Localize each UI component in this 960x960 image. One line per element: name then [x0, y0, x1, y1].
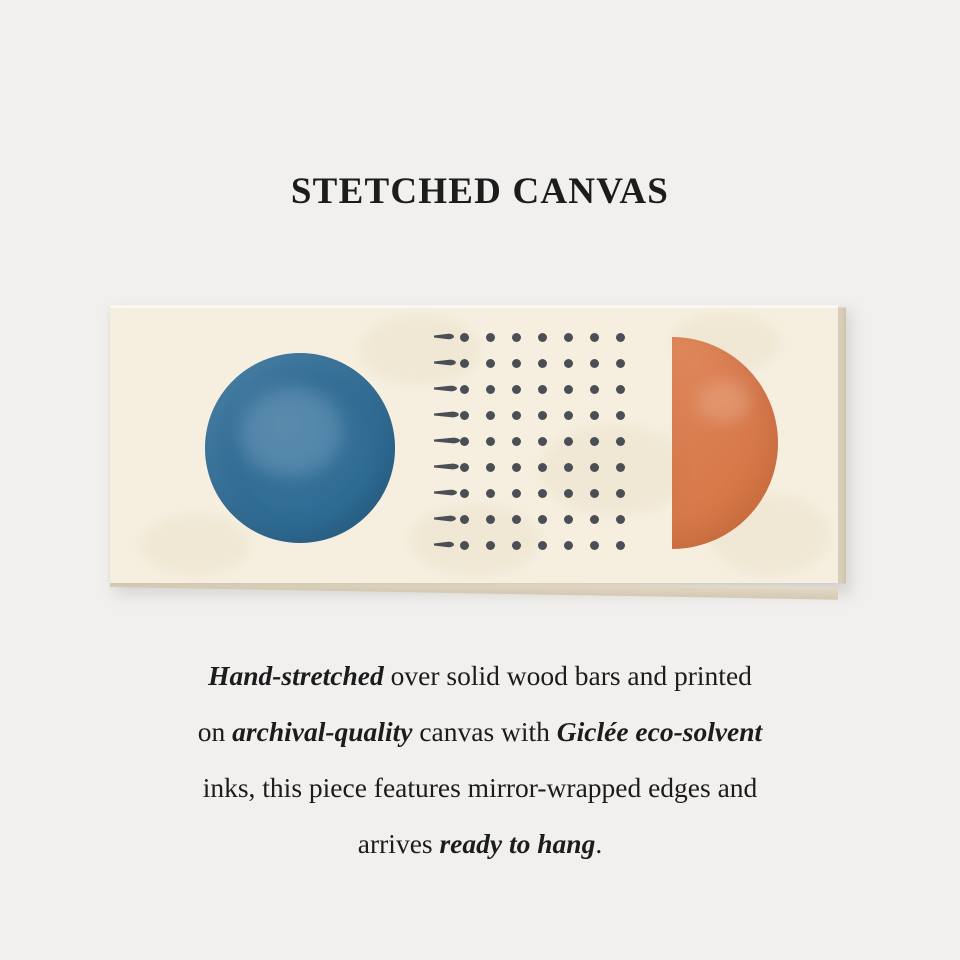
dot-grid-comet — [434, 541, 454, 548]
dot-grid-dot — [512, 385, 521, 394]
dot-grid-comet — [434, 359, 456, 366]
dot-grid-dot — [590, 333, 599, 342]
dot-grid-dot — [460, 489, 469, 498]
dot-grid-dot — [564, 489, 573, 498]
dot-grid-dot — [616, 463, 625, 472]
dot-grid-dot — [564, 411, 573, 420]
dot-grid-comet — [434, 437, 460, 444]
dot-grid-dot — [460, 411, 469, 420]
dot-grid-dot — [590, 437, 599, 446]
dot-grid-dot — [512, 463, 521, 472]
dot-grid-dot — [564, 541, 573, 550]
dot-grid-dot — [538, 359, 547, 368]
dot-grid-dot — [460, 463, 469, 472]
dot-grid-comet — [434, 463, 459, 470]
dot-grid-dot — [590, 489, 599, 498]
dot-grid-dot — [616, 437, 625, 446]
dot-grid-dot — [564, 385, 573, 394]
dot-grid-dot — [512, 489, 521, 498]
dot-grid-dot — [512, 515, 521, 524]
dot-grid-dot — [512, 359, 521, 368]
description-line-1: Hand-stretched over solid wood bars and … — [208, 660, 752, 691]
dot-grid-dot — [564, 333, 573, 342]
dot-grid-dot — [460, 359, 469, 368]
dot-grid-dot — [512, 411, 521, 420]
dot-grid-dot — [538, 515, 547, 524]
dot-grid-dot — [538, 463, 547, 472]
dot-grid-dot — [460, 515, 469, 524]
dot-grid-dot — [616, 489, 625, 498]
dot-grid-dot — [512, 437, 521, 446]
texture-blotch — [140, 515, 250, 575]
dot-grid-dot — [486, 385, 495, 394]
dot-grid-comet — [434, 333, 454, 340]
dot-grid-dot — [590, 359, 599, 368]
dot-grid-dot — [460, 385, 469, 394]
dot-grid-dot — [590, 541, 599, 550]
description-line-4: arrives ready to hang. — [358, 828, 602, 859]
description-emphasis-archival: archival-quality — [232, 716, 412, 747]
dot-grid-dot — [616, 359, 625, 368]
description-emphasis-giclee: Giclée eco-solvent — [557, 716, 762, 747]
dot-grid-dot — [538, 333, 547, 342]
dot-grid-dot — [486, 489, 495, 498]
dot-grid-dot — [460, 437, 469, 446]
dot-grid-dot — [486, 515, 495, 524]
dot-grid-dot — [616, 541, 625, 550]
product-description-text: Hand-stretched over solid wood bars and … — [80, 648, 880, 872]
dot-grid-dot — [512, 333, 521, 342]
dot-grid-dot — [486, 541, 495, 550]
description-emphasis-hand-stretched: Hand-stretched — [208, 660, 384, 691]
dot-grid-dot — [590, 411, 599, 420]
dot-grid-comet — [434, 411, 459, 418]
product-description-page: STETCHED CANVAS Hand-stretched over soli… — [0, 0, 960, 960]
blue-circle-shape — [205, 353, 395, 543]
dot-grid-dot — [616, 515, 625, 524]
dot-grid-dot — [590, 463, 599, 472]
dot-grid-dot — [512, 541, 521, 550]
dot-grid-dot — [616, 385, 625, 394]
description-emphasis-ready-to-hang: ready to hang — [439, 828, 595, 859]
dot-grid-dot — [538, 437, 547, 446]
canvas-artwork-image — [110, 305, 852, 595]
dot-grid-dot — [590, 385, 599, 394]
dot-grid-dot — [486, 359, 495, 368]
dot-grid-dot — [460, 333, 469, 342]
dot-grid-dot — [564, 437, 573, 446]
dot-grid-dot — [460, 541, 469, 550]
dot-grid-dot — [590, 515, 599, 524]
description-line-2: on archival-quality canvas with Giclée e… — [198, 716, 762, 747]
dot-grid-dot — [486, 333, 495, 342]
dot-grid-comet — [434, 515, 456, 522]
dot-grid-shape — [432, 331, 642, 563]
dot-grid-comet — [434, 385, 457, 392]
page-title: STETCHED CANVAS — [0, 170, 960, 213]
canvas-top-highlight — [110, 305, 838, 308]
dot-grid-dot — [486, 411, 495, 420]
dot-grid-dot — [486, 437, 495, 446]
dot-grid-dot — [616, 333, 625, 342]
dot-grid-dot — [616, 411, 625, 420]
dot-grid-dot — [486, 463, 495, 472]
canvas-front-face — [110, 305, 838, 583]
dot-grid-dot — [538, 541, 547, 550]
dot-grid-dot — [538, 385, 547, 394]
dot-grid-dot — [538, 489, 547, 498]
dot-grid-dot — [564, 463, 573, 472]
dot-grid-comet — [434, 489, 457, 496]
dot-grid-dot — [564, 515, 573, 524]
description-line-3: inks, this piece features mirror-wrapped… — [203, 772, 758, 803]
dot-grid-dot — [538, 411, 547, 420]
dot-grid-dot — [564, 359, 573, 368]
